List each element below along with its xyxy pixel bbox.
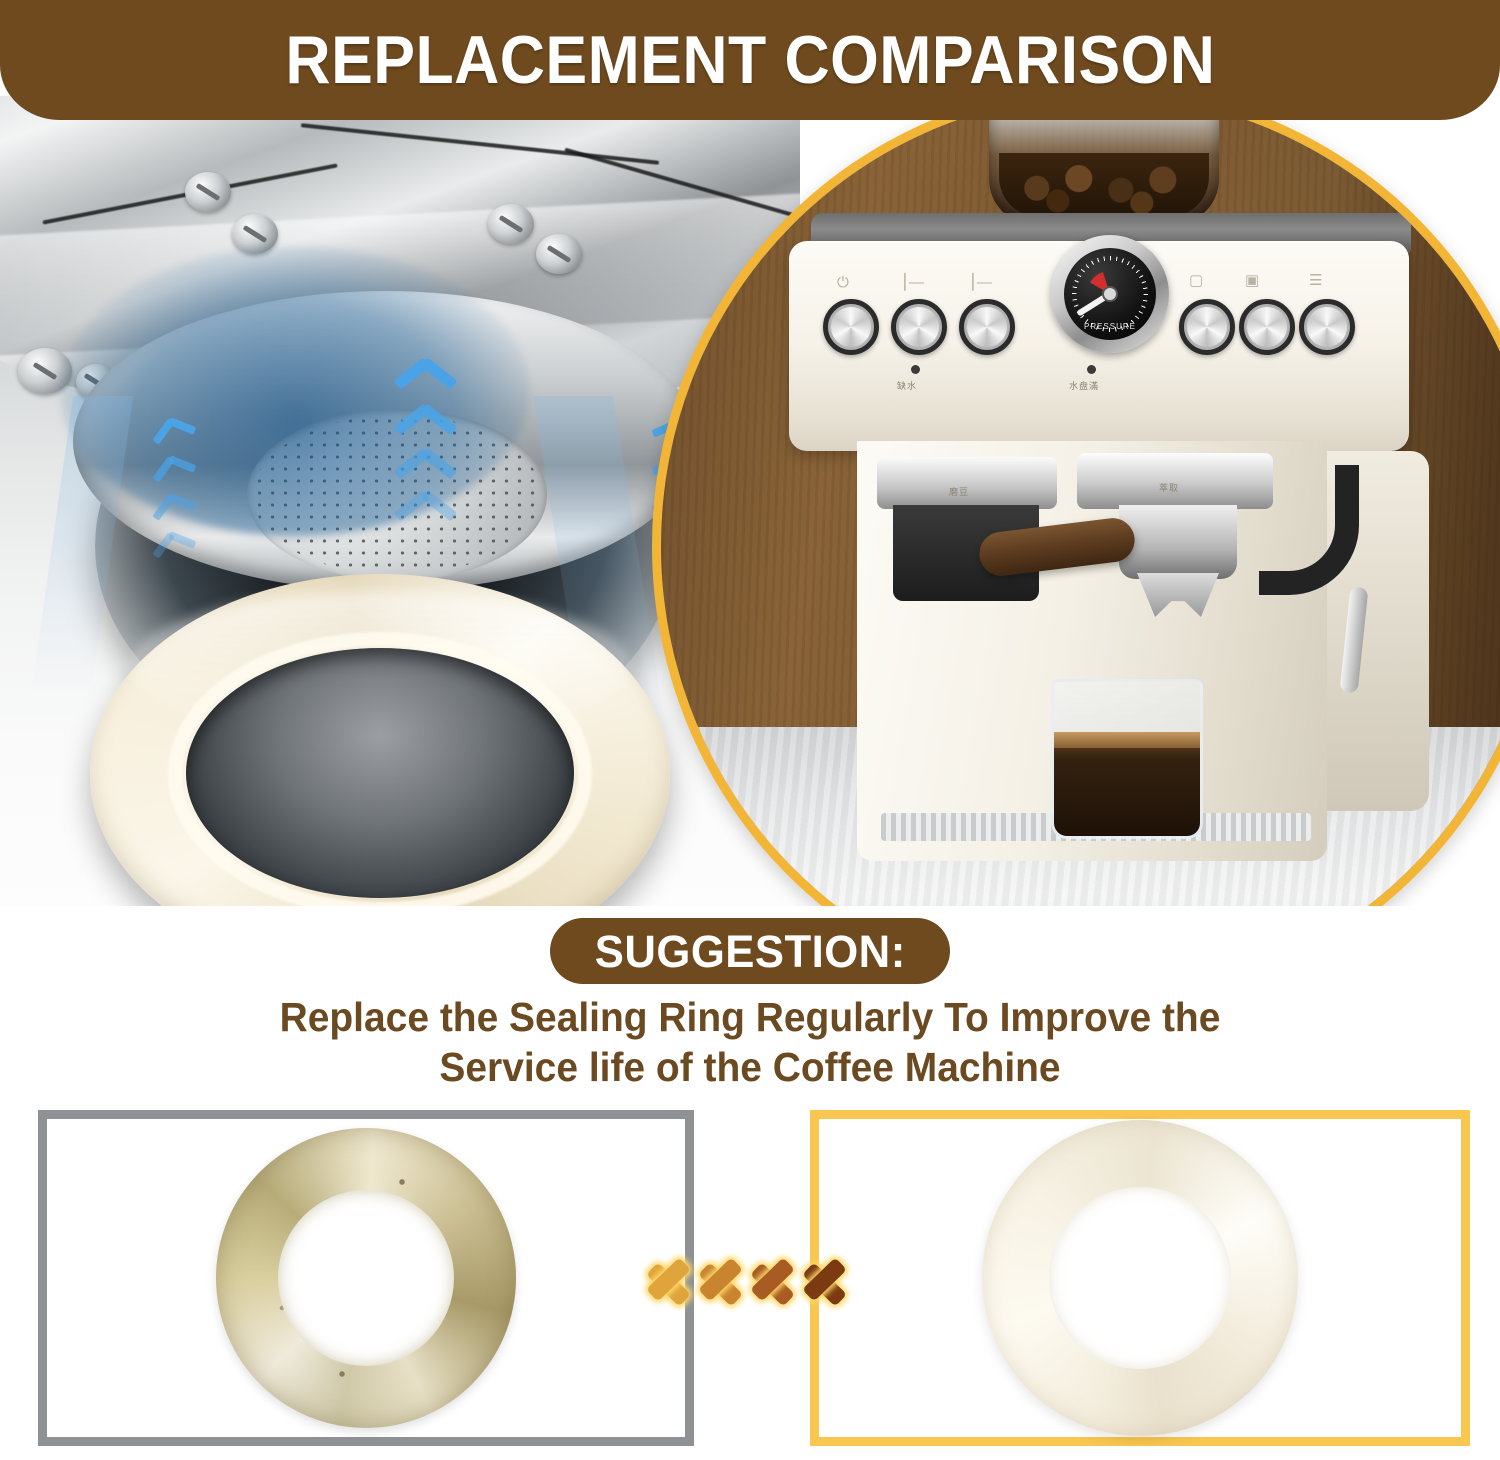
gauge-label: PRESSURE [1064,322,1156,331]
espresso-machine-inset: ⏻ ⎮― ⎮― ▢ ▣ ☰ PRESSU [652,96,1500,906]
screw-head [536,234,582,274]
hero-photo-area: ⏻ ⎮― ⎮― ▢ ▣ ☰ PRESSU [0,96,1500,906]
suggestion-text: Replace the Sealing Ring Regularly To Im… [152,992,1349,1092]
new-sealing-ring-image [982,1120,1298,1436]
double-cup-icon: ▣ [1245,273,1259,288]
replacement-arrows [648,1228,862,1336]
screw-head [488,204,534,244]
suggestion-line-2: Service life of the Coffee Machine [152,1042,1349,1092]
menu-icon: ☰ [1309,273,1322,288]
suggestion-badge: SUGGESTION: [550,918,950,984]
led-label-cn: 水盘滿 [1069,379,1099,392]
power-icon: ⏻ [837,275,849,290]
single-shot-icon: ⎮― [901,275,924,290]
header-banner: REPLACEMENT COMPARISON [0,0,1500,120]
gauge-hub [1104,288,1116,300]
chevron-right-icon [700,1234,748,1330]
status-led [911,365,920,374]
chevron-right-icon [752,1234,800,1330]
chevron-right-icon [648,1234,696,1330]
grinder-outlet-collar [877,457,1057,509]
control-knob[interactable] [1239,299,1295,355]
new-ring-panel [810,1110,1470,1446]
portafilter-basket [1119,505,1237,579]
control-knob[interactable] [1299,299,1355,355]
suggestion-section: SUGGESTION: Replace the Sealing Ring Reg… [0,900,1500,1100]
product-infographic: REPLACEMENT COMPARISON [0,0,1500,1460]
control-knob[interactable] [891,299,947,355]
led-label-cn: 缺水 [897,379,917,392]
screw-head [185,172,231,212]
status-led [1087,365,1096,374]
control-knob[interactable] [959,299,1015,355]
page-title: REPLACEMENT COMPARISON [285,26,1215,94]
espresso-liquid [1054,732,1200,836]
old-sealing-ring-image [216,1128,516,1428]
espresso-machine: ⏻ ⎮― ⎮― ▢ ▣ ☰ PRESSU [789,213,1429,873]
control-knob[interactable] [1179,299,1235,355]
single-cup-icon: ▢ [1189,273,1203,288]
silicone-sealing-ring [90,574,670,906]
blue-seal-glow [60,246,530,536]
gauge-face: PRESSURE [1064,248,1156,340]
chevron-right-icon [804,1234,852,1330]
ring-inner-lip [168,632,592,906]
pressure-gauge: PRESSURE [1051,235,1169,353]
control-knob[interactable] [823,299,879,355]
suggestion-badge-label: SUGGESTION: [595,929,906,974]
double-shot-icon: ⎮― [969,275,992,290]
crema-layer [1054,732,1200,748]
coffee-beans [999,153,1209,217]
suggestion-line-1: Replace the Sealing Ring Regularly To Im… [152,992,1349,1042]
old-ring-panel [38,1110,694,1446]
grinder-label-cn: 磨豆 [949,485,969,498]
espresso-glass [1051,679,1203,839]
brew-label-cn: 萃取 [1159,481,1179,494]
bean-hopper [989,105,1219,225]
ring-stains [216,1128,516,1428]
